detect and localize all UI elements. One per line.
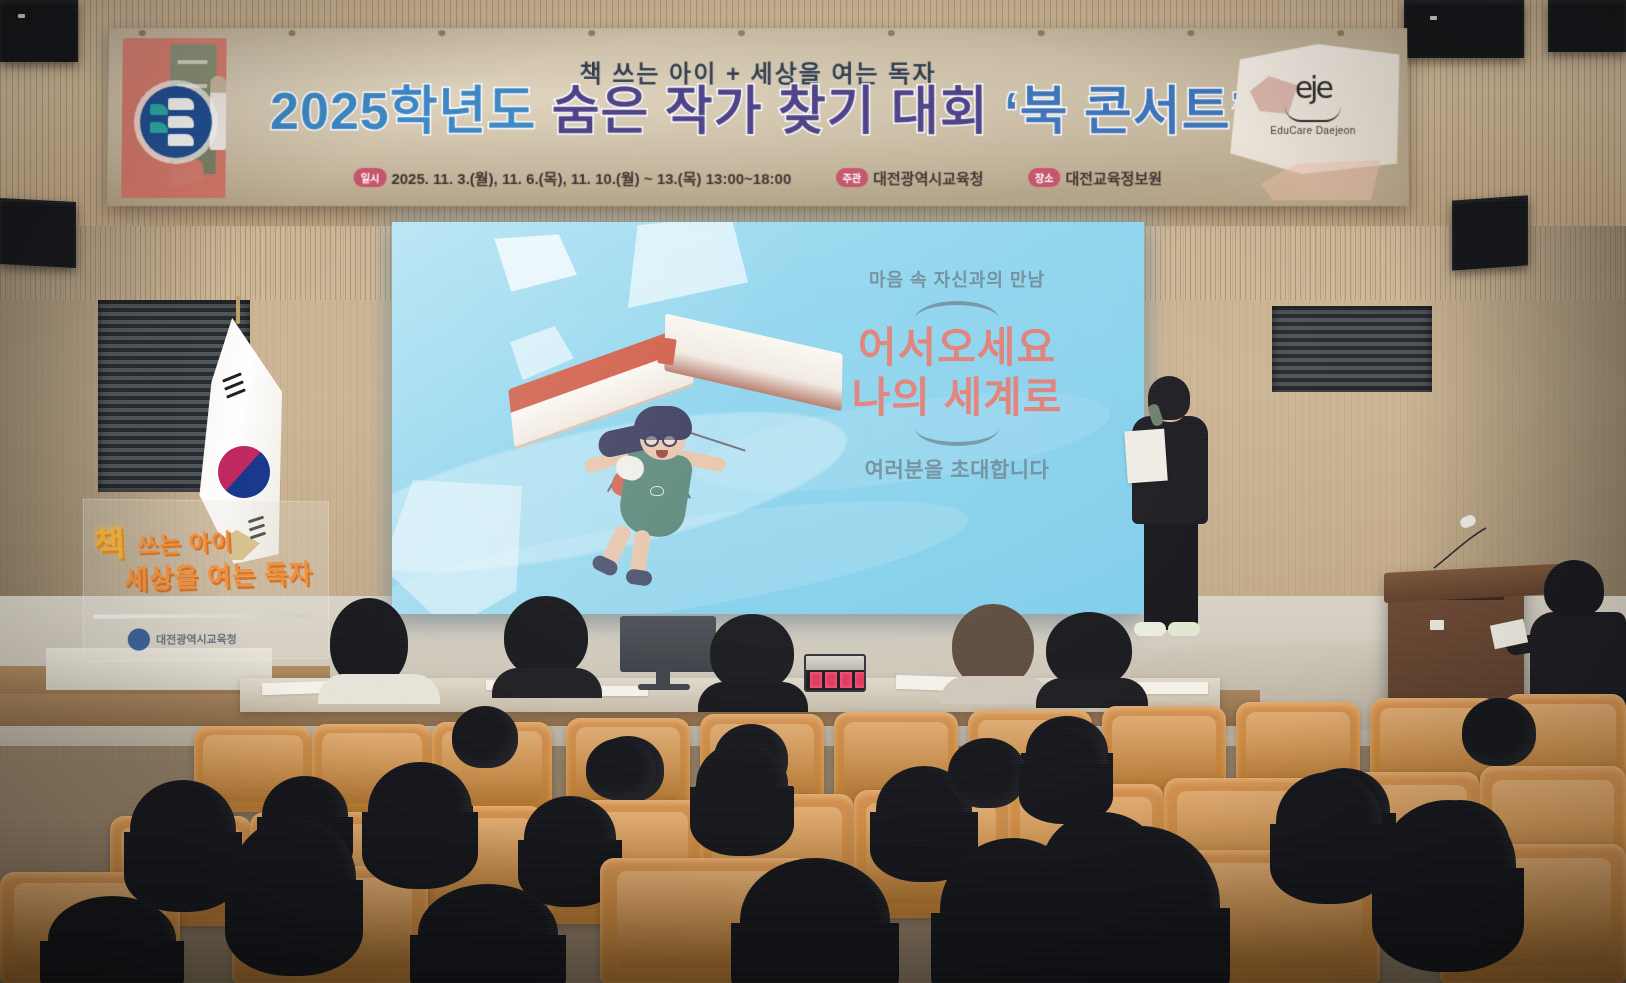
audience-head (1024, 726, 1108, 800)
judge-person (950, 604, 1038, 696)
judge-person (1042, 612, 1138, 698)
slide-headline-2: 나의 세계로 (792, 373, 1122, 423)
audience-head (232, 818, 356, 938)
banner-title-main: 숨은 작가 찾기 대회 (552, 83, 989, 141)
student-presenter (1120, 368, 1218, 640)
judge-person (498, 596, 594, 692)
monitor-base (638, 684, 690, 690)
judge-monitor (620, 616, 716, 672)
ceiling-speaker (1452, 195, 1528, 270)
eje-logo-mark: eje (1258, 74, 1368, 104)
standee-line-1-big: 책 (92, 524, 127, 564)
educare-daejeon-logo-icon: eje EduCare Daejeon (1258, 74, 1369, 137)
audience-head (452, 706, 518, 768)
slide-brace-top-icon (915, 301, 999, 319)
presenter-script-paper (1124, 429, 1168, 484)
banner-meta-line: 일시2025. 11. 3.(월), 11. 6.(목), 11. 10.(월)… (107, 168, 1408, 189)
stage-standee: 책 쓰는 아이 세상을 여는 독자 대전광역시교육청 (83, 499, 329, 662)
eje-smile-icon (1285, 106, 1341, 122)
ceiling-speaker (1404, 0, 1524, 58)
wall-vent-right (1272, 306, 1432, 392)
slide-brace-bottom-icon (915, 428, 999, 446)
floating-paper-icon (489, 228, 581, 299)
banner-host-text: 대전광역시교육청 (873, 171, 984, 188)
audience-head (586, 738, 656, 800)
slide-footer: 여러분을 초대합니다 (792, 454, 1122, 484)
slide-headline-1: 어서오세요 (792, 323, 1122, 373)
banner-host-chip: 주관 (836, 168, 868, 187)
audience-head (696, 742, 788, 828)
audience-head (1060, 826, 1220, 983)
girl-illustration (574, 400, 734, 590)
judge-person (318, 598, 438, 698)
ceiling-speaker (0, 198, 76, 268)
banner-place-chip: 장소 (1028, 168, 1061, 187)
banner-place-text: 대전교육정보원 (1065, 171, 1162, 188)
taeguk-icon (209, 437, 279, 507)
audience-head (1380, 800, 1516, 930)
banner-title: 2025학년도 숨은 작가 찾기 대회 ‘북 콘서트’ (108, 84, 1408, 140)
standee-line-1-small: 쓰는 아이 (136, 529, 233, 560)
slide-eyebrow: 마음 속 자신과의 만남 (792, 266, 1122, 292)
eje-logo-text: EduCare Daejeon (1258, 126, 1368, 137)
countdown-timer[interactable] (804, 654, 866, 692)
judge-person (706, 614, 798, 704)
standee-line-2: 세상을 여는 독자 (123, 553, 313, 596)
audience-head (1276, 772, 1382, 872)
auditorium-photo: 책 쓰는 아이 + 세상을 여는 독자 2025학년도 숨은 작가 찾기 대회 … (0, 0, 1626, 983)
floating-paper-icon (628, 222, 748, 308)
ceiling-speaker (0, 0, 78, 62)
banner-title-quote: ‘북 콘서트’ (1004, 83, 1246, 141)
standee-logo-icon (128, 628, 150, 650)
audience-head (418, 884, 558, 983)
audience-head (130, 780, 236, 880)
slide-text-block: 마음 속 자신과의 만남 어서오세요 나의 세계로 여러분을 초대합니다 (792, 266, 1122, 484)
event-banner: 책 쓰는 아이 + 세상을 여는 독자 2025학년도 숨은 작가 찾기 대회 … (107, 28, 1409, 206)
projection-screen: 마음 속 자신과의 만남 어서오세요 나의 세계로 여러분을 초대합니다 (392, 222, 1144, 614)
audience-head (948, 738, 1026, 808)
ceiling-speaker (1548, 0, 1626, 52)
banner-illustration-right: eje EduCare Daejeon (1221, 30, 1402, 202)
audience-head (740, 858, 890, 983)
table-document (1136, 682, 1208, 694)
audience-head (48, 896, 176, 983)
audience-head (368, 762, 472, 858)
gooseneck-microphone-icon (1432, 524, 1490, 570)
banner-date-chip: 일시 (354, 168, 387, 187)
banner-grommets (109, 28, 1407, 38)
banner-date-text: 2025. 11. 3.(월), 11. 6.(목), 11. 10.(월) ~… (391, 171, 791, 188)
banner-title-year: 2025학년도 (270, 83, 536, 141)
timer-digits (810, 672, 866, 688)
standee-org-text: 대전광역시교육청 (156, 631, 237, 648)
audience-head (1462, 698, 1536, 766)
